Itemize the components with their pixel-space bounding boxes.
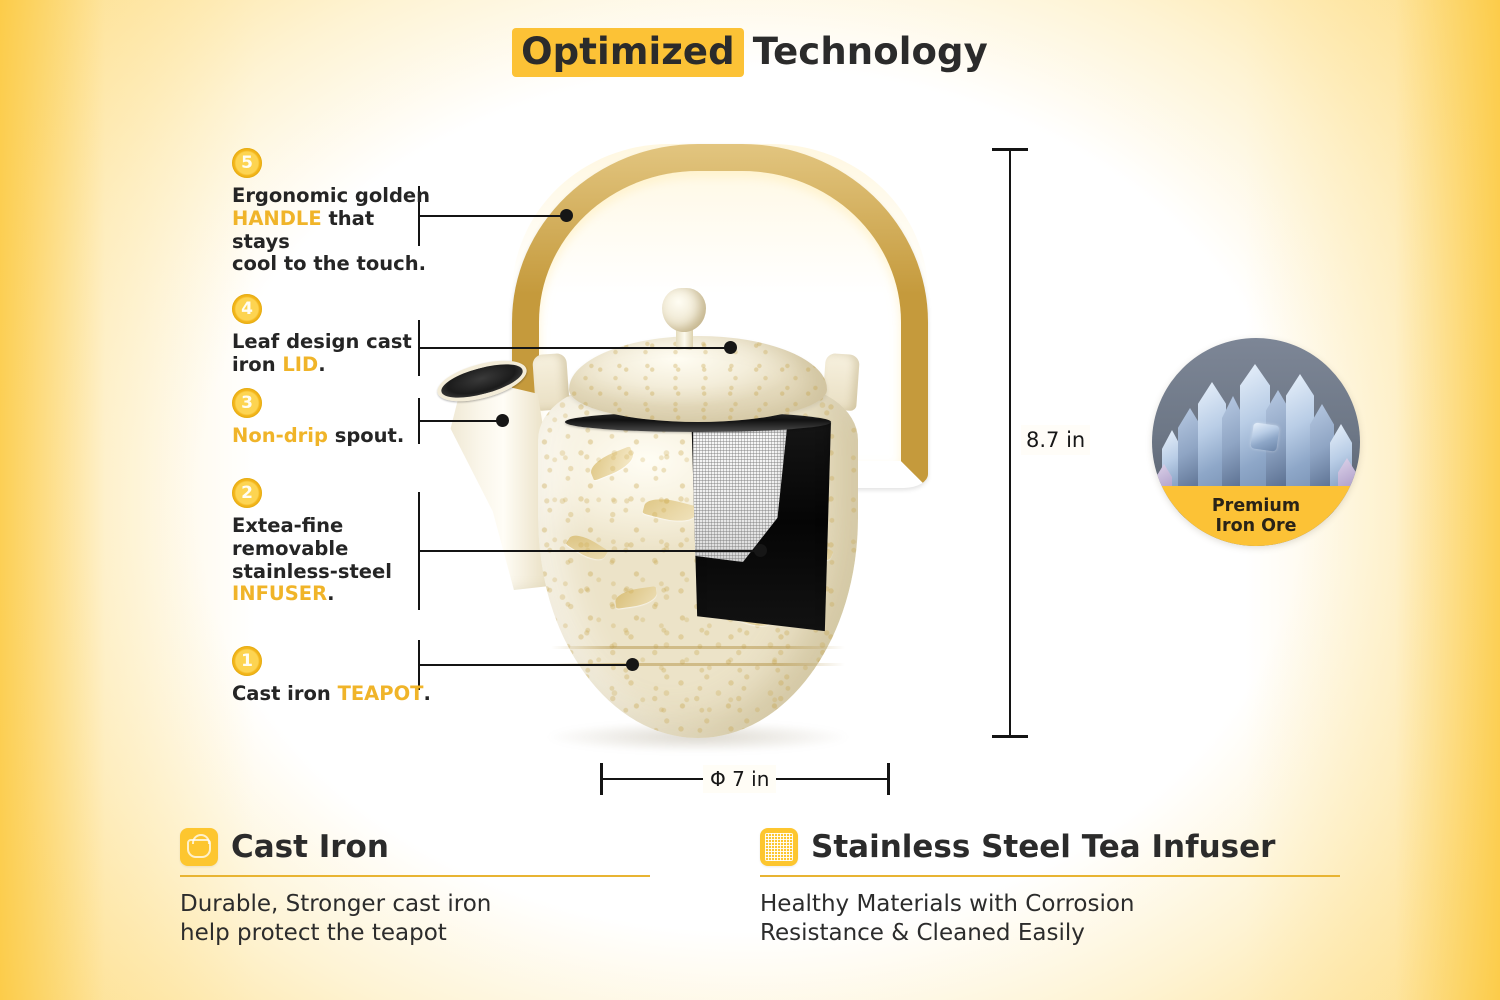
callout-text-4: Leaf design castiron LID. xyxy=(232,331,437,377)
feature-cast-iron-desc: Durable, Stronger cast iron help protect… xyxy=(180,890,650,948)
feature-stainless-infuser: Stainless Steel Tea Infuser Healthy Mate… xyxy=(760,828,1340,948)
feature-cast-iron-desc-line2: help protect the teapot xyxy=(180,919,650,948)
feature-divider xyxy=(180,875,650,877)
feature-cast-iron-title: Cast Iron xyxy=(231,829,389,865)
callout-item-5: 5Ergonomic goldenHANDLE that stayscool t… xyxy=(232,148,437,276)
callout-text-3: Non-drip spout. xyxy=(232,425,437,448)
width-dimension-label: Φ 7 in xyxy=(703,765,776,793)
callout-badge-2: 2 xyxy=(232,478,262,508)
callout-item-1: 1Cast iron TEAPOT. xyxy=(232,646,437,706)
feature-infuser-desc: Healthy Materials with Corrosion Resista… xyxy=(760,890,1340,948)
ore-banner-line2: Iron Ore xyxy=(1215,516,1296,536)
feature-divider xyxy=(760,875,1340,877)
callout-item-4: 4Leaf design castiron LID. xyxy=(232,294,437,377)
feature-cast-iron-desc-line1: Durable, Stronger cast iron xyxy=(180,890,650,919)
teapot-icon xyxy=(180,828,218,866)
callout-text-1: Cast iron TEAPOT. xyxy=(232,683,437,706)
leader-line-4 xyxy=(418,320,748,376)
feature-infuser-desc-line1: Healthy Materials with Corrosion xyxy=(760,890,1340,919)
callout-badge-5: 5 xyxy=(232,148,262,178)
callout-item-3: 3Non-drip spout. xyxy=(232,388,437,448)
infographic-canvas: OptimizedTechnology xyxy=(0,0,1500,1000)
callout-text-2: Extea-fineremovablestainless-steelINFUSE… xyxy=(232,515,437,606)
premium-iron-ore-badge: Premium Iron Ore xyxy=(1152,338,1360,546)
ore-banner-line1: Premium xyxy=(1212,496,1300,516)
callout-badge-4: 4 xyxy=(232,294,262,324)
callout-item-2: 2Extea-fineremovablestainless-steelINFUS… xyxy=(232,478,437,606)
leader-line-2 xyxy=(418,492,778,610)
title-highlight: Optimized xyxy=(512,28,744,77)
title-rest: Technology xyxy=(753,30,988,73)
feature-infuser-title: Stainless Steel Tea Infuser xyxy=(811,829,1275,865)
ore-banner: Premium Iron Ore xyxy=(1152,486,1360,546)
callout-badge-3: 3 xyxy=(232,388,262,418)
height-dimension-line xyxy=(1009,148,1011,738)
callout-text-5: Ergonomic goldenHANDLE that stayscool to… xyxy=(232,185,437,276)
leader-line-1 xyxy=(418,640,648,690)
mesh-grid-icon xyxy=(760,828,798,866)
feature-infuser-desc-line2: Resistance & Cleaned Easily xyxy=(760,919,1340,948)
page-title: OptimizedTechnology xyxy=(0,30,1500,73)
leader-line-5 xyxy=(418,186,578,246)
height-dimension-label: 8.7 in xyxy=(1021,425,1090,455)
feature-cast-iron: Cast Iron Durable, Stronger cast iron he… xyxy=(180,828,650,948)
callout-badge-1: 1 xyxy=(232,646,262,676)
